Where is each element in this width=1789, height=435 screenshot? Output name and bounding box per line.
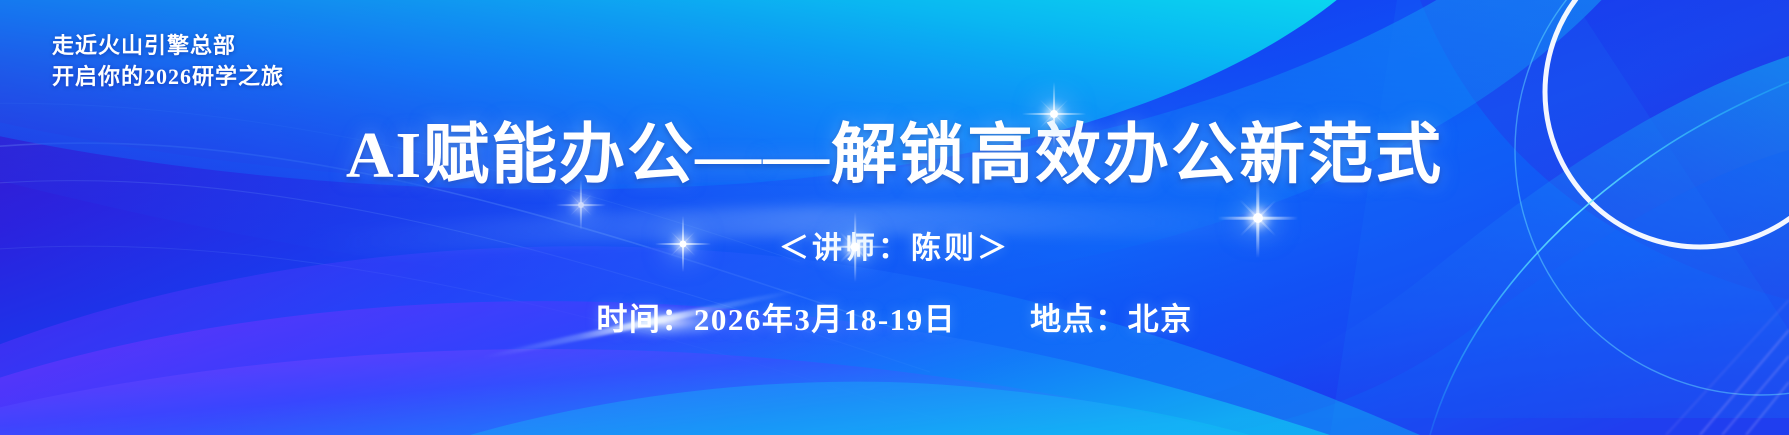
corner-tagline: 走近火山引擎总部 开启你的2026研学之旅 <box>52 30 284 92</box>
banner-text-layer: 走近火山引擎总部 开启你的2026研学之旅 AI赋能办公——解锁高效办公新范式 … <box>0 0 1789 435</box>
corner-tagline-line1: 走近火山引擎总部 <box>52 33 236 58</box>
event-date: 时间：2026年3月18-19日 <box>596 298 956 342</box>
event-banner: 走近火山引擎总部 开启你的2026研学之旅 AI赋能办公——解锁高效办公新范式 … <box>0 0 1789 435</box>
main-title: AI赋能办公——解锁高效办公新范式 <box>0 118 1789 194</box>
corner-tagline-line2: 开启你的2026研学之旅 <box>52 61 284 92</box>
meta-row: 时间：2026年3月18-19日 地点：北京 <box>0 298 1789 342</box>
event-location: 地点：北京 <box>1030 298 1193 342</box>
speaker-line: ＜讲师：陈则＞ <box>0 228 1789 270</box>
